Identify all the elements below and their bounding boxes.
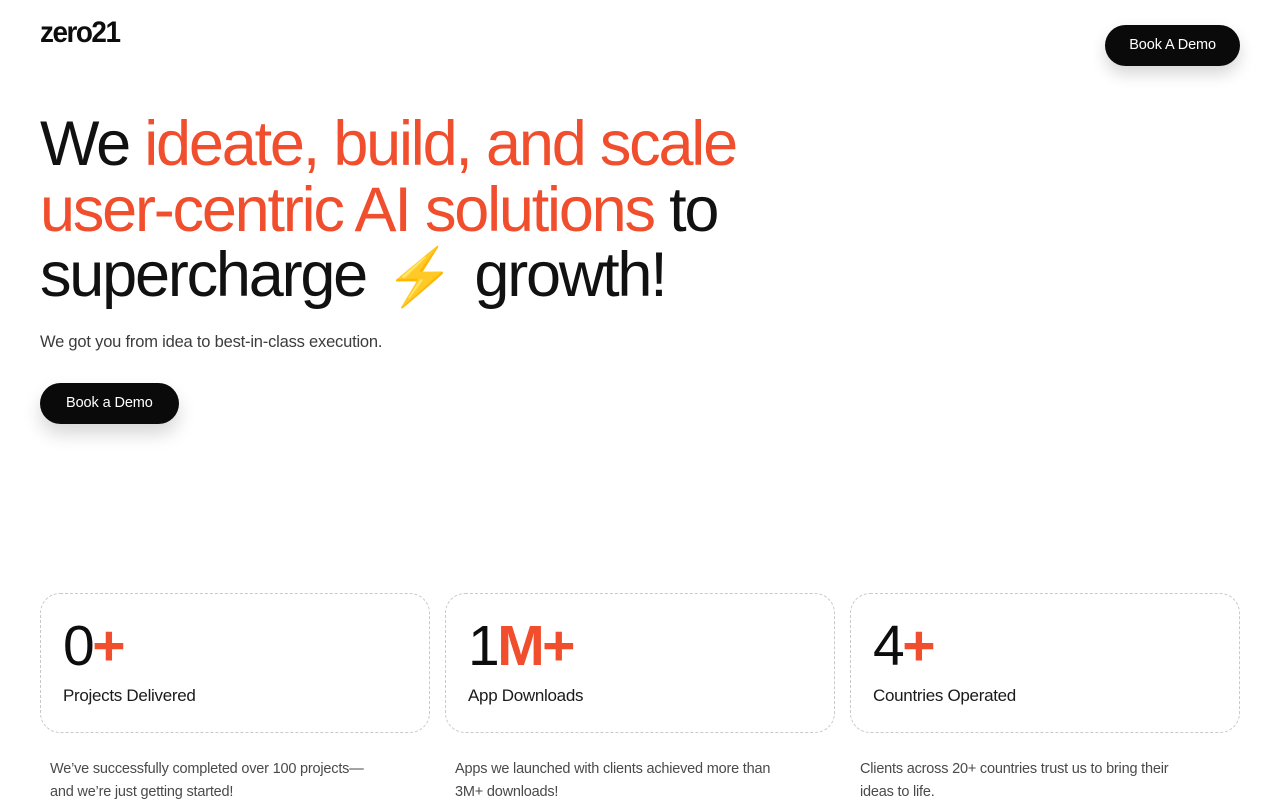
- stat-number: 0: [63, 614, 92, 678]
- hero-book-a-demo-button[interactable]: Book a Demo: [40, 383, 179, 424]
- stat-description: We’ve successfully completed over 100 pr…: [40, 758, 370, 800]
- stat-value: 4+: [873, 620, 1217, 672]
- stat-description: Apps we launched with clients achieved m…: [445, 758, 775, 800]
- stat-value: 1M+: [468, 620, 812, 672]
- hero-subtitle: We got you from idea to best-in-class ex…: [40, 333, 1240, 352]
- lightning-bolt-icon: ⚡: [381, 245, 459, 308]
- stats-section: 0+ Projects Delivered We’ve successfully…: [40, 593, 1240, 800]
- stat-column: 1M+ App Downloads Apps we launched with …: [445, 593, 835, 800]
- headline-segment-accent: ideate, build, and scale user-centric AI…: [40, 109, 736, 245]
- stat-card-countries-operated: 4+ Countries Operated: [850, 593, 1240, 733]
- headline-segment-plain-1: We: [40, 109, 144, 179]
- stat-card-projects-delivered: 0+ Projects Delivered: [40, 593, 430, 733]
- headline-segment-plain-3: growth!: [459, 240, 666, 310]
- stat-suffix: M+: [497, 614, 573, 678]
- stat-suffix: +: [92, 614, 123, 678]
- header-book-a-demo-button[interactable]: Book A Demo: [1105, 25, 1240, 66]
- stat-suffix: +: [902, 614, 933, 678]
- stat-label: App Downloads: [468, 686, 812, 706]
- stat-number: 4: [873, 614, 902, 678]
- stat-card-app-downloads: 1M+ App Downloads: [445, 593, 835, 733]
- stat-number: 1: [468, 614, 497, 678]
- page-title: We ideate, build, and scale user-centric…: [40, 112, 830, 309]
- hero-section: We ideate, build, and scale user-centric…: [40, 112, 1240, 424]
- stat-value: 0+: [63, 620, 407, 672]
- brand-logo[interactable]: zero21: [40, 18, 119, 48]
- stat-column: 4+ Countries Operated Clients across 20+…: [850, 593, 1240, 800]
- site-header: zero21 Book A Demo: [0, 0, 1280, 66]
- stat-label: Countries Operated: [873, 686, 1217, 706]
- landing-page: zero21 Book A Demo We ideate, build, and…: [0, 0, 1280, 800]
- stat-column: 0+ Projects Delivered We’ve successfully…: [40, 593, 430, 800]
- stat-description: Clients across 20+ countries trust us to…: [850, 758, 1180, 800]
- stat-label: Projects Delivered: [63, 686, 407, 706]
